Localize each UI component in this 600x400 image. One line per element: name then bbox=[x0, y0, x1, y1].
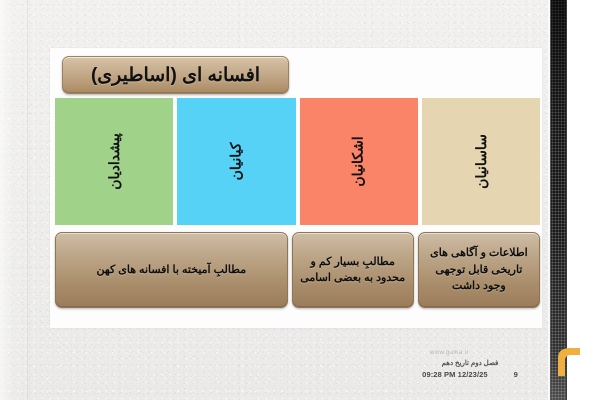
era-column-sasanian[interactable]: ساسانیان bbox=[422, 98, 540, 225]
footer-chapter-title: فصل دوم تاریخ دهم bbox=[395, 360, 545, 369]
era-label-pishdadian: پیشدادیان bbox=[106, 133, 123, 190]
description-text-limited: مطالبِ بسیار کم و محدود به بعضی اسامی bbox=[299, 254, 407, 287]
era-label-ashkanian: اشکانیان bbox=[350, 136, 367, 186]
left-edge-rule bbox=[27, 0, 28, 400]
description-box-legends[interactable]: مطالبِ آمیخته با افسانه های کهن bbox=[55, 232, 288, 308]
right-white-margin bbox=[567, 0, 600, 400]
logo-swoosh-icon bbox=[556, 346, 582, 388]
description-text-historical: اطلاعات و آگاهی های تاریخی قابل توجهی وج… bbox=[425, 245, 533, 295]
footer-meta: 09:28 PM 12/23/25 9 bbox=[395, 370, 545, 379]
slide-footer: فصل دوم تاریخ دهم 09:28 PM 12/23/25 9 bbox=[395, 360, 545, 379]
era-column-ashkanian[interactable]: اشکانیان bbox=[300, 98, 418, 225]
description-row: مطالبِ آمیخته با افسانه های کهن مطالبِ ب… bbox=[55, 232, 540, 308]
era-label-kiyanian: کیانیان bbox=[228, 143, 245, 181]
description-box-limited[interactable]: مطالبِ بسیار کم و محدود به بعضی اسامی bbox=[292, 232, 414, 308]
footer-page-number: 9 bbox=[514, 370, 518, 379]
description-box-historical[interactable]: اطلاعات و آگاهی های تاریخی قابل توجهی وج… bbox=[418, 232, 540, 308]
era-column-kiyanian[interactable]: کیانیان bbox=[177, 98, 295, 225]
left-edge-band bbox=[0, 0, 30, 400]
era-column-row: پیشدادیان کیانیان اشکانیان ساسانیان bbox=[55, 98, 540, 225]
presentation-slide: افسانه ای (اساطیری) پیشدادیان کیانیان اش… bbox=[0, 0, 600, 400]
page-title: افسانه ای (اساطیری) bbox=[91, 64, 260, 87]
era-label-sasanian: ساسانیان bbox=[472, 134, 489, 189]
footer-timestamp: 09:28 PM 12/23/25 bbox=[422, 370, 488, 379]
slide-title-bar: افسانه ای (اساطیری) bbox=[62, 56, 289, 94]
decorative-mesh-strip bbox=[550, 0, 567, 400]
watermark-text: www.gama.ir bbox=[430, 350, 469, 356]
era-column-pishdadian[interactable]: پیشدادیان bbox=[55, 98, 173, 225]
description-text-legends: مطالبِ آمیخته با افسانه های کهن bbox=[97, 262, 247, 279]
